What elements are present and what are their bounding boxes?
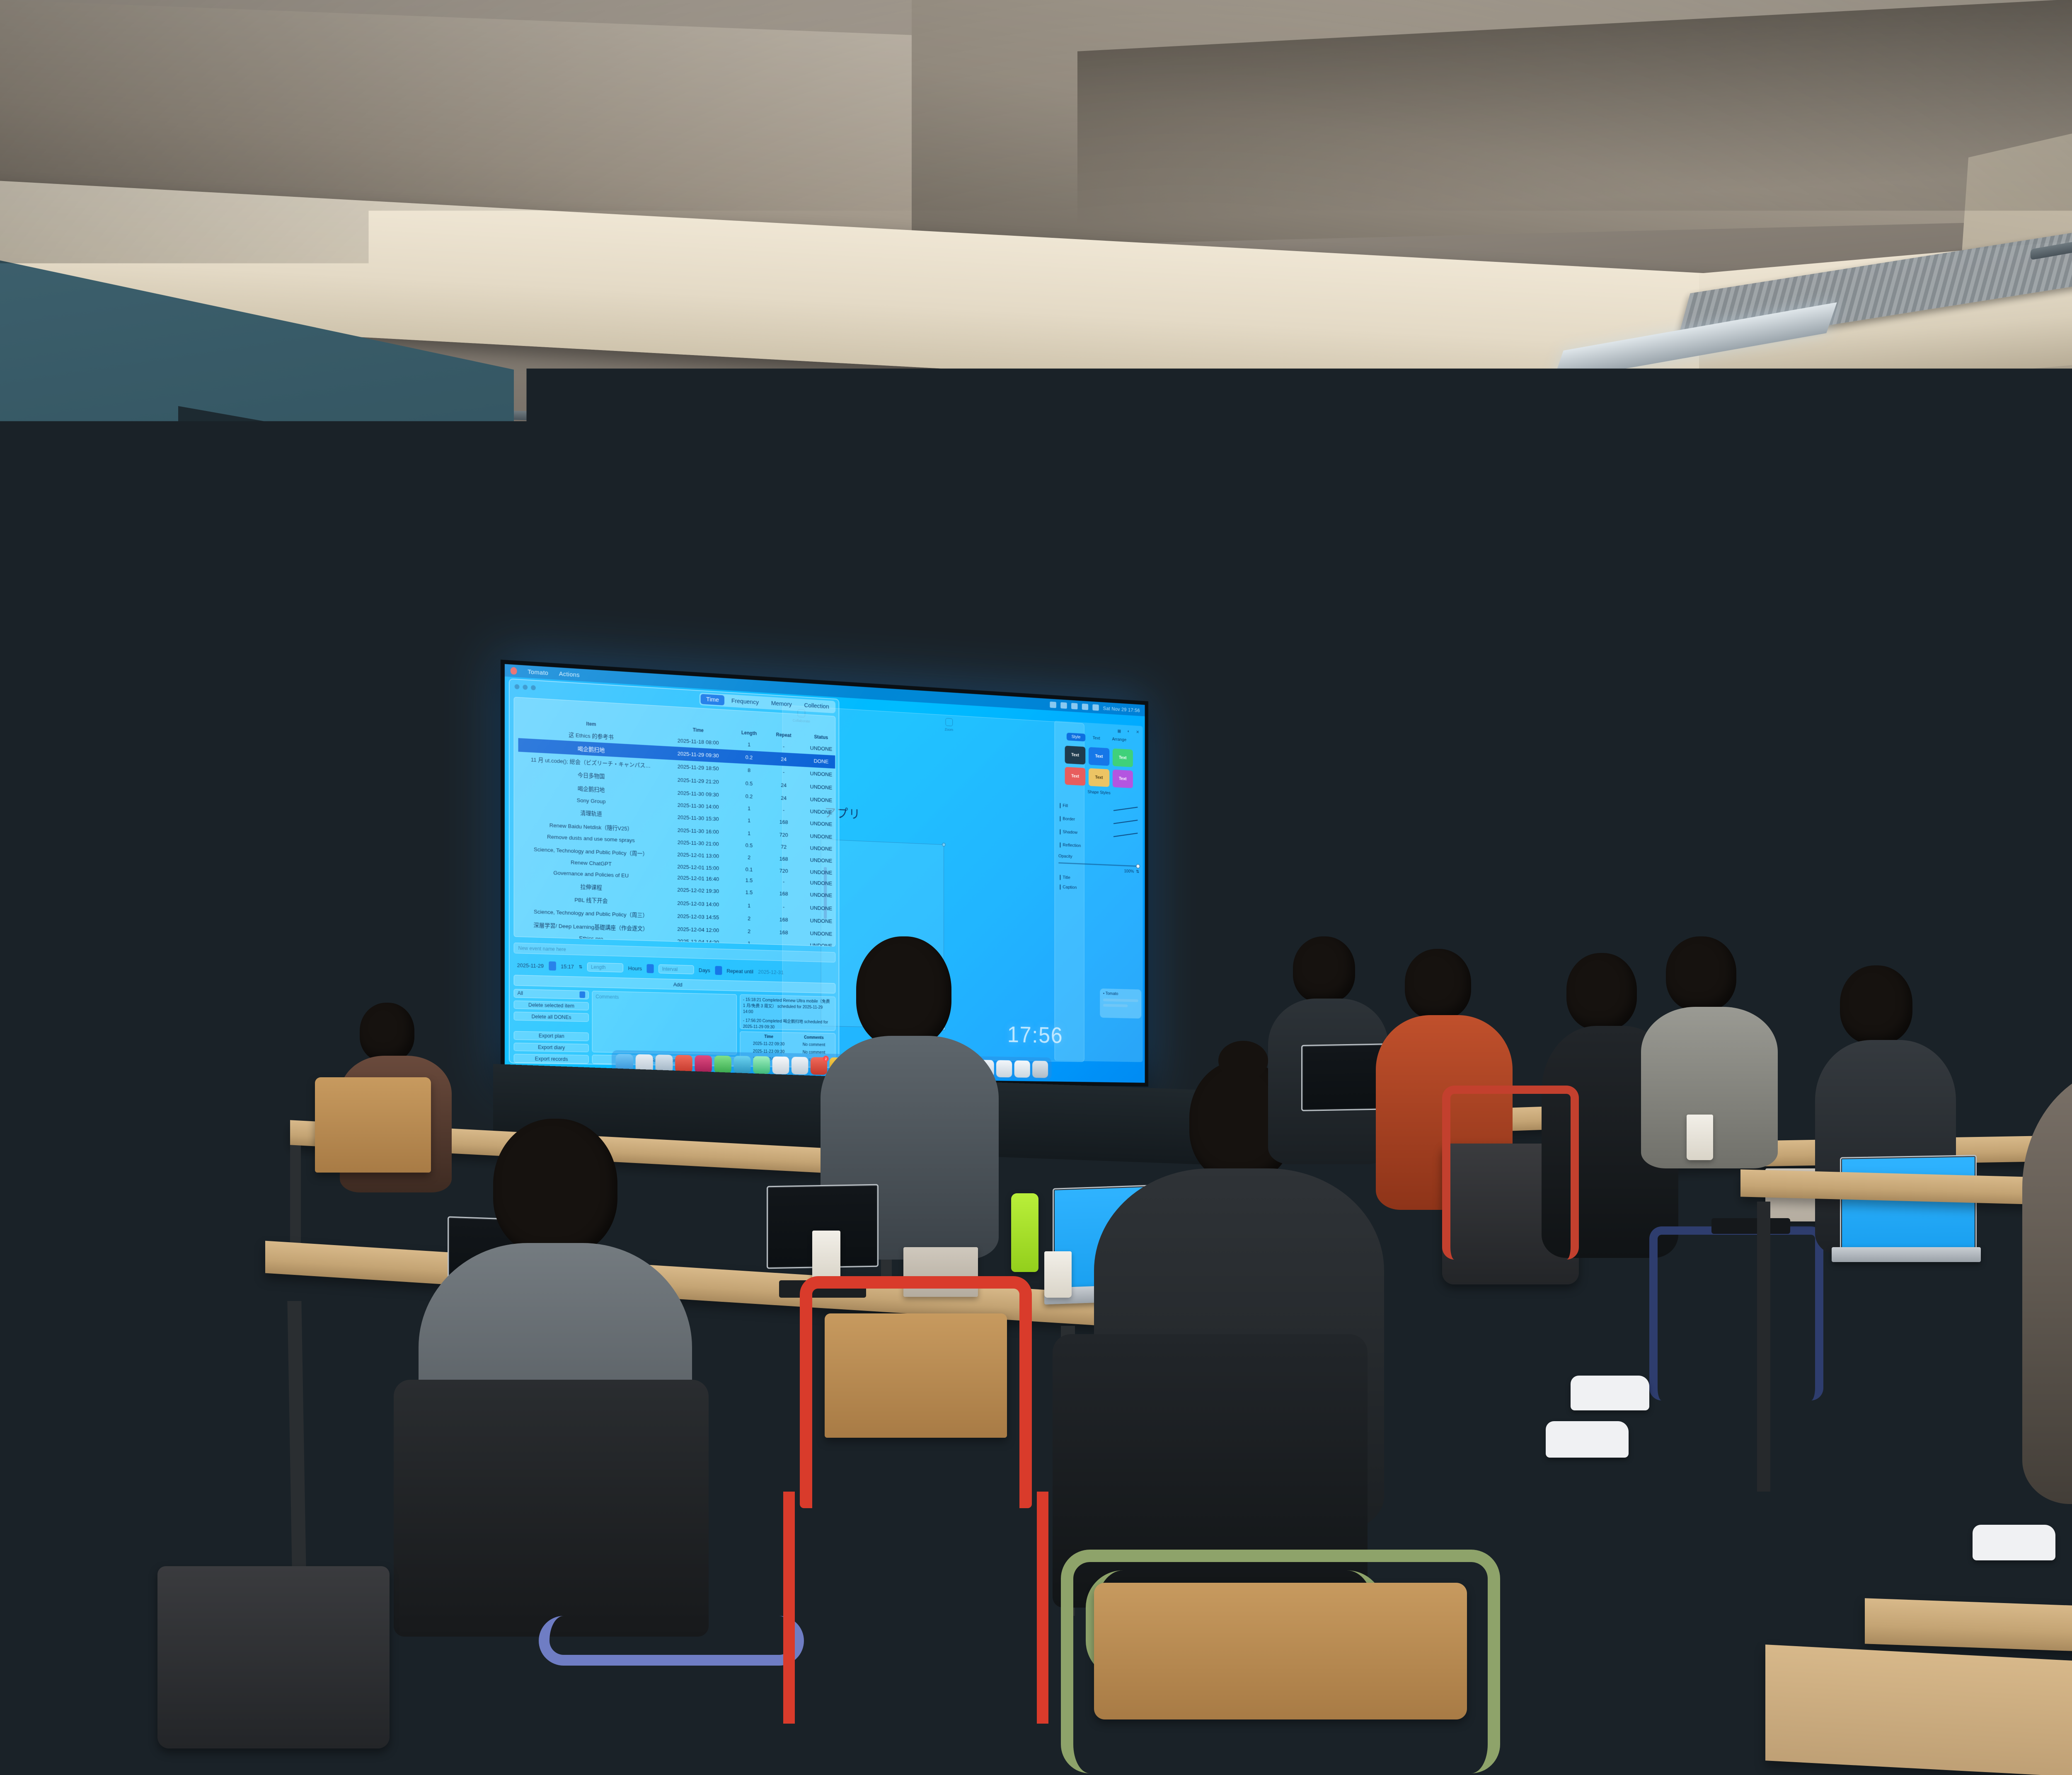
chair-foreground-left[interactable] [394,1380,709,1637]
shape-style-swatch[interactable]: Text [1113,748,1133,767]
inspector-animate-icon[interactable]: ◐ [1128,729,1130,734]
tab-collection[interactable]: Collection [799,700,834,712]
control-center-icon[interactable] [1092,704,1099,711]
tomato-app-window: Time Frequency Memory Collection Item Ti… [509,678,840,1068]
date-stepper[interactable] [549,961,556,970]
plan-cell-status: UNDONE [802,767,835,781]
attendee-head [1293,936,1355,1003]
slider-knob[interactable] [1136,864,1140,868]
plan-cell-repeat: - [765,875,803,888]
filter-value: All [518,990,523,996]
plan-cell-repeat: 72 [765,841,803,853]
shape-style-swatches: Text Text Text Text Text Text [1058,745,1139,788]
coffee-cup[interactable] [812,1231,840,1280]
plan-cell-repeat: 168 [765,887,803,901]
plan-cell-length: 0.1 [733,863,765,876]
plan-cell-length: 1 [733,898,765,912]
presenter-laptop[interactable] [254,899,390,1001]
plan-cell-length: 0.2 [733,750,765,765]
shape-style-swatch[interactable]: Text [1065,767,1086,786]
plan-cell-repeat: - [765,804,803,817]
plan-cell-time: 2025-12-04 12:00 [663,922,733,938]
history-cell-time: 2025-11-22 09:30 [743,1040,795,1048]
maximize-icon[interactable] [531,685,536,690]
disclosure-triangle-icon[interactable] [1060,816,1061,821]
safari-icon[interactable] [792,1057,808,1074]
time-stepper-icon[interactable]: ⇅ [579,964,583,970]
music-icon[interactable] [695,1055,712,1074]
backpack-floor[interactable] [157,1566,390,1748]
plan-cell-length: 0.5 [733,776,765,791]
table-foreground-right-top [1765,1644,2072,1775]
length-input[interactable]: Length [587,962,623,972]
plan-cell-repeat: 24 [765,752,803,767]
shadow-preview[interactable] [1113,833,1138,837]
attendee-head [1405,949,1471,1019]
plan-cell-length: 1 [733,737,765,752]
shape-style-swatch[interactable]: Text [1089,768,1109,787]
plan-cell-length: 1.5 [733,885,765,900]
plan-cell-repeat: 720 [765,865,803,877]
wall-sconce-left [141,443,315,601]
inspector-shadow-label: Shadow [1063,829,1077,835]
shape-style-swatch[interactable]: Text [1113,769,1133,788]
laptop-right-2[interactable] [1840,1155,1977,1253]
time-value[interactable]: 15:17 [561,963,574,970]
shoe [1571,1376,1649,1410]
plan-cell-length: 8 [733,763,765,778]
plan-cell-repeat: 168 [765,912,803,926]
facetime-icon[interactable] [714,1055,731,1073]
inspector-tabs: Style Text Arrange [1058,732,1139,745]
opacity-label: Opacity [1058,854,1139,862]
attendee-foreground-right [2022,949,2072,1504]
ceiling-projector [1247,467,1479,558]
photo-scene: 館内無料 / 接続ご自由に FREE WI-FI SSID Bizreach-C… [0,0,2072,1775]
attendee-head [1566,953,1637,1030]
comments-textarea[interactable]: Comments [592,991,737,1054]
plan-table-container[interactable]: Item Time Length Repeat Status 这 Ethics … [514,697,836,947]
tab-frequency[interactable]: Frequency [726,696,764,708]
apple-logo-icon[interactable] [511,667,517,675]
chair-foreground-frame-1[interactable] [1061,1550,1500,1773]
plan-cell-length: 1 [733,802,765,815]
laptop-right-2-base[interactable] [1832,1247,1981,1262]
plan-cell-length: 2 [733,912,765,926]
coffee-cup[interactable] [1044,1251,1072,1298]
inspector-close-icon[interactable]: ✕ [1136,730,1139,735]
plan-cell-status: UNDONE [802,888,835,902]
plan-cell-length: 2 [733,924,765,938]
log-line: - 15:18:21 Completed Renew Ultra mobile（… [743,997,833,1017]
shoe [1546,1421,1629,1458]
attendee-head [1840,965,1912,1044]
plan-cell-status: UNDONE [802,780,835,795]
plan-cell-status: UNDONE [802,816,835,831]
delete-all-dones-button[interactable]: Delete all DONEs [514,1012,589,1022]
attendee-head [1666,936,1736,1011]
repeat-until-label: Repeat until [726,967,753,974]
zoom-icon [945,718,953,726]
plan-cell-status: UNDONE [802,914,835,928]
interval-stepper[interactable] [715,966,722,975]
plan-cell-status: UNDONE [802,877,835,890]
volume-icon[interactable] [1082,704,1088,710]
chrome-icon[interactable] [772,1057,789,1074]
plan-cell-length: 1 [733,826,765,841]
actions-column: All Delete selected item Delete all DONE… [514,989,589,1064]
hair-bun [1218,1041,1268,1081]
chair-red-legs [783,1492,1048,1724]
tab-arrange[interactable]: Arrange [1107,735,1131,744]
shape-styles-label: Shape Styles [1058,788,1139,797]
repeat-until-value[interactable]: 2025-12-31 [758,969,784,975]
attendee-head [493,1119,617,1255]
filter-select[interactable]: All [514,989,589,999]
plan-cell-status: UNDONE [802,741,835,756]
attendee-body [2022,1065,2072,1504]
plan-cell-repeat: - [765,900,803,914]
podcasts-icon[interactable] [734,1056,751,1074]
plan-cell-status: UNDONE [802,793,835,808]
smartphone-right[interactable] [1711,1218,1790,1234]
checkbox-icon[interactable] [1060,842,1061,848]
table-leg [1757,1202,1770,1492]
coffee-cup[interactable] [1687,1115,1713,1160]
plan-cell-status: UNDONE [802,901,835,915]
export-plan-button[interactable]: Export plan [514,1031,589,1041]
chair-red-seat-back[interactable] [825,1313,1007,1438]
plan-cell-status: UNDONE [802,866,835,878]
inspector-title-label: Title [1063,875,1070,880]
date-value[interactable]: 2025-11-29 [517,962,544,969]
battery-icon[interactable] [1050,701,1056,708]
chevron-down-icon [579,991,585,998]
tomato-widget[interactable]: • Tomato [1100,989,1141,1019]
settings-icon[interactable] [1014,1060,1030,1078]
plan-cell-repeat: - [765,938,803,947]
disclosure-triangle-icon[interactable] [1060,829,1061,834]
export-diary-button[interactable]: Export diary [514,1042,589,1052]
tab-text[interactable]: Text [1088,734,1105,742]
border-preview[interactable] [1113,820,1138,824]
shape-style-swatch[interactable]: Text [1089,747,1109,766]
smartphone[interactable] [315,1371,369,1395]
menubar-clock[interactable]: Sat Nov 29 17:56 [1103,705,1140,713]
plan-cell-status: UNDONE [802,842,835,855]
plan-cell-repeat: 168 [765,851,803,866]
toolbar-zoom-label: Zoom [945,728,953,732]
menubar-actions[interactable]: Actions [559,670,580,678]
close-icon[interactable] [515,684,520,689]
fill-preview[interactable] [1113,807,1138,811]
toolbar-zoom-button[interactable]: Zoom [945,718,953,732]
plan-cell-status: UNDONE [802,829,835,844]
export-records-button[interactable]: Export records [514,1054,589,1064]
inspector-caption-label: Caption [1063,885,1077,890]
inspector-reflection-label: Reflection [1063,843,1081,848]
green-tea-bottle[interactable] [1011,1193,1038,1272]
checkbox-icon[interactable] [1060,884,1061,890]
plan-cell-length: 1 [733,813,765,828]
plan-table-body: 这 Ethics 的参考书2025-11-18 08:001-UNDONE喝企鹅… [518,725,836,946]
plan-table: Item Time Length Repeat Status 这 Ethics … [518,715,836,946]
stepper-icon[interactable]: ⇅ [1136,869,1139,874]
plan-cell-repeat: 24 [765,778,803,793]
log-line: - 17:56:20 Completed 喝企鹅扫地 scheduled for… [743,1018,833,1031]
delete-selected-item-button[interactable]: Delete selected item [514,1000,589,1011]
attendee-head [856,936,951,1047]
plan-cell-status: UNDONE [802,853,835,868]
chair-red-right[interactable] [1442,1086,1579,1260]
plan-cell-length: 2 [733,850,765,865]
shoe [1973,1525,2055,1560]
wifi-status-icon[interactable] [1060,702,1067,709]
photos-icon[interactable] [675,1055,692,1073]
tab-memory[interactable]: Memory [766,698,797,710]
inspector-fill-label: Fill [1063,803,1068,808]
plan-cell-time: 2025-12-04 14:20 [663,935,733,946]
inspector-border-label: Border [1063,817,1075,822]
inspector-format-icon[interactable]: ▦ [1117,728,1121,734]
screen-clock-overlay: 17:56 [1007,1021,1063,1048]
attendee-head [360,1003,414,1062]
plan-cell-repeat: 168 [765,926,803,940]
chair-blue-right[interactable] [1649,1226,1823,1400]
plan-cell-length: 0.5 [733,839,765,851]
plan-cell-time: 2025-12-04 14:40 [663,946,733,947]
plan-cell-length: 0.2 [733,789,765,804]
plan-cell-repeat: 24 [765,791,803,805]
tab-time[interactable]: Time [701,694,724,706]
chair-back-left[interactable] [315,1077,431,1173]
resize-handle[interactable] [942,843,946,846]
plan-cell-repeat: 168 [765,815,803,829]
length-unit: Hours [628,965,642,972]
disclosure-triangle-icon[interactable] [1060,803,1061,808]
messages-icon[interactable] [753,1056,770,1074]
length-stepper[interactable] [646,964,654,973]
shape-style-swatch[interactable]: Text [1065,746,1086,765]
plan-cell-length: 1.5 [733,874,765,886]
minimize-icon[interactable] [523,684,528,690]
plan-cell-length: 1 [733,938,765,947]
bluetooth-icon[interactable] [1071,703,1077,709]
interval-input[interactable]: Interval [658,965,694,975]
tomato-widget-label: • Tomato [1103,991,1138,996]
plan-cell-status: DONE [802,754,835,769]
opacity-value[interactable]: 100% [1124,869,1134,874]
plan-cell-repeat: 720 [765,827,803,842]
checkbox-icon[interactable] [1060,875,1061,880]
interval-unit: Days [699,967,710,973]
menubar-app-name[interactable]: Tomato [528,668,548,677]
presenter-head [288,804,346,867]
plan-cell-repeat: - [765,765,803,780]
bag-floor-center[interactable] [630,1649,804,1775]
trash-icon[interactable] [1032,1061,1048,1078]
plan-cell-repeat: - [765,739,803,754]
tab-style[interactable]: Style [1067,733,1086,741]
